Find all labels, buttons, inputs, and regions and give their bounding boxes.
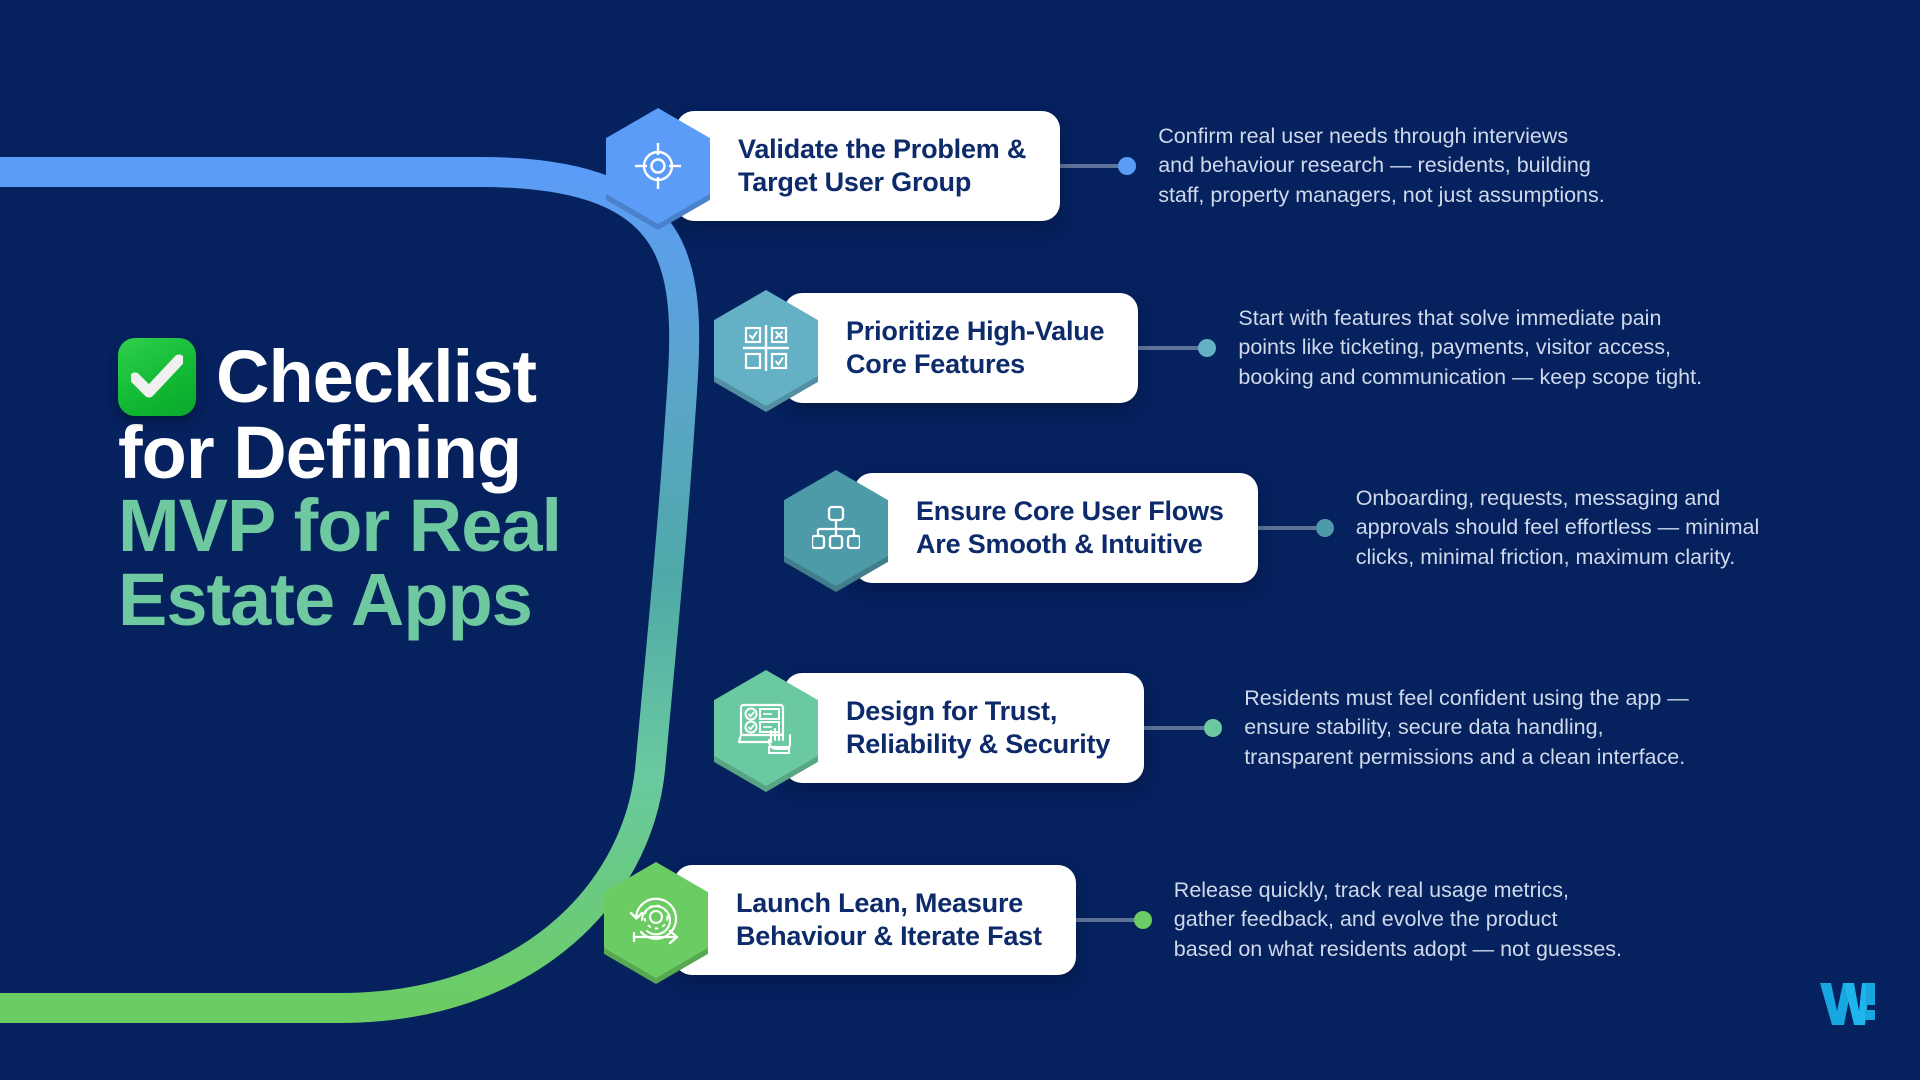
agile-iteration-gear-icon: [628, 894, 684, 946]
step-3-card[interactable]: Ensure Core User Flows Are Smooth & Intu…: [854, 473, 1258, 583]
step-4-connector: [1144, 719, 1222, 737]
flowchart-hierarchy-icon: [812, 505, 860, 551]
step-1-description: Confirm real user needs through intervie…: [1158, 122, 1605, 209]
step-1-hexagon: [606, 108, 710, 224]
step-5-connector: [1076, 911, 1152, 929]
step-row-5: Launch Lean, Measure Behaviour & Iterate…: [604, 862, 1622, 978]
title-line-1: Checklist: [216, 340, 536, 413]
step-3-dot: [1316, 519, 1334, 537]
step-1-card[interactable]: Validate the Problem & Target User Group: [676, 111, 1060, 221]
step-4-card[interactable]: Design for Trust, Reliability & Security: [784, 673, 1144, 783]
step-row-2: Prioritize High-Value Core Features Star…: [714, 290, 1702, 406]
step-5-title: Launch Lean, Measure Behaviour & Iterate…: [736, 887, 1042, 953]
step-2-connector: [1138, 339, 1216, 357]
target-crosshair-icon: [632, 140, 684, 192]
step-3-connector: [1258, 519, 1334, 537]
step-row-3: Ensure Core User Flows Are Smooth & Intu…: [784, 470, 1759, 586]
step-5-hexagon: [604, 862, 708, 978]
step-3-hexagon: [784, 470, 888, 586]
step-1-dot: [1118, 157, 1136, 175]
step-4-title: Design for Trust, Reliability & Security: [846, 695, 1110, 761]
step-3-description: Onboarding, requests, messaging and appr…: [1356, 484, 1760, 571]
infographic-canvas: Checklist for Defining MVP for Real Esta…: [0, 0, 1920, 1080]
step-2-description: Start with features that solve immediate…: [1238, 304, 1702, 391]
checklist-screen-hand-icon: [738, 702, 794, 754]
step-2-card[interactable]: Prioritize High-Value Core Features: [784, 293, 1138, 403]
title-line-3: MVP for Real: [118, 489, 678, 562]
step-1-connector: [1060, 157, 1136, 175]
step-row-1: Validate the Problem & Target User Group…: [606, 108, 1605, 224]
title-line-2: for Defining: [118, 416, 678, 489]
priority-matrix-icon: [741, 323, 791, 373]
w-exclamation-logo: [1818, 977, 1878, 1036]
step-5-dot: [1134, 911, 1152, 929]
step-2-hexagon: [714, 290, 818, 406]
step-5-card[interactable]: Launch Lean, Measure Behaviour & Iterate…: [674, 865, 1076, 975]
title-line-4: Estate Apps: [118, 563, 678, 636]
step-3-title: Ensure Core User Flows Are Smooth & Intu…: [916, 495, 1224, 561]
step-4-description: Residents must feel confident using the …: [1244, 684, 1689, 771]
step-2-title: Prioritize High-Value Core Features: [846, 315, 1104, 381]
green-check-badge-icon: [118, 338, 196, 416]
step-4-dot: [1204, 719, 1222, 737]
step-5-description: Release quickly, track real usage metric…: [1174, 876, 1622, 963]
page-title: Checklist for Defining MVP for Real Esta…: [118, 338, 678, 636]
step-4-hexagon: [714, 670, 818, 786]
step-2-dot: [1198, 339, 1216, 357]
step-row-4: Design for Trust, Reliability & Security…: [714, 670, 1689, 786]
step-1-title: Validate the Problem & Target User Group: [738, 133, 1026, 199]
